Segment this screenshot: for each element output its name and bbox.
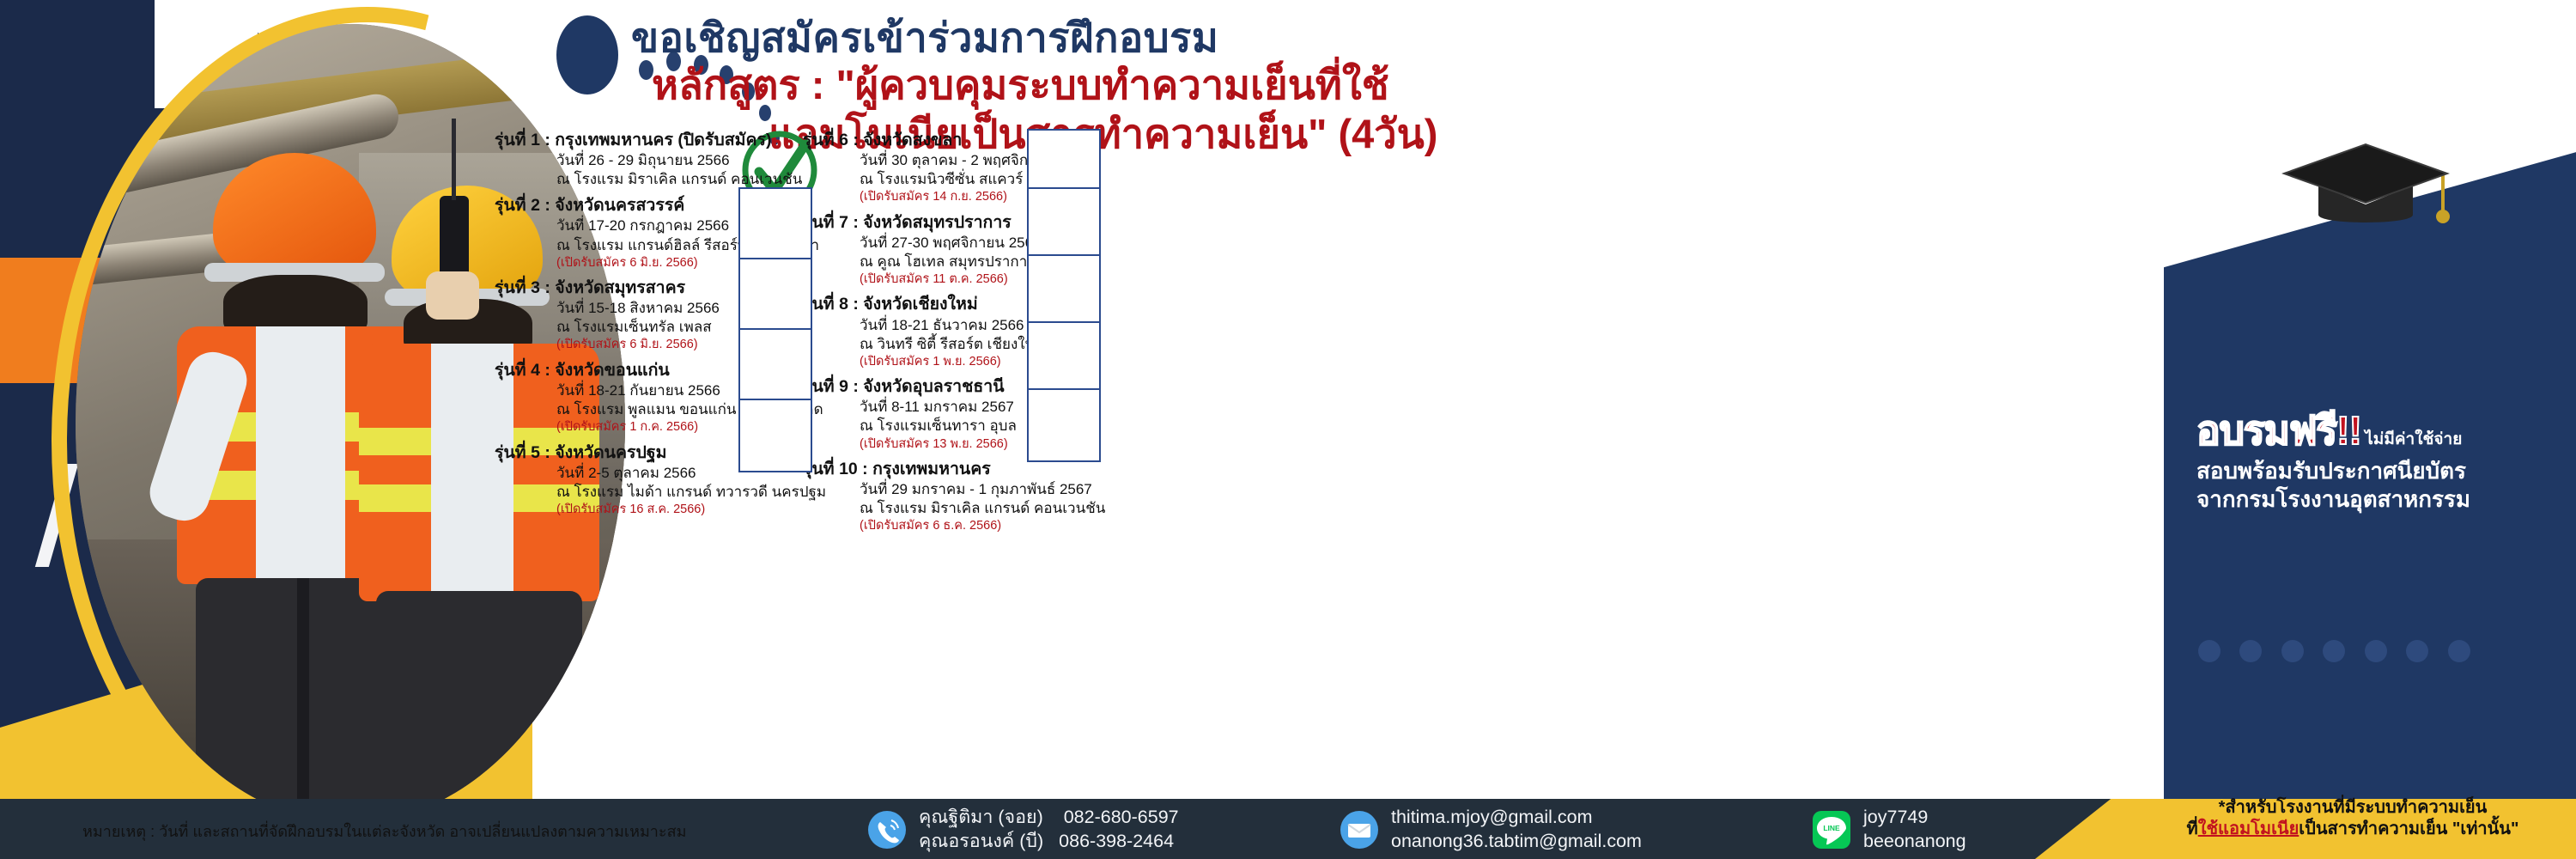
free-title-row: อบรมฟรี!! ไม่มีค่าใช้จ่าย	[2196, 411, 2574, 452]
batch-item: รุ่นที่ 7 : จังหวัดสมุทรปราการ วันที่ 27…	[803, 211, 1181, 289]
batch-heading: รุ่นที่ 8 : จังหวัดเชียงใหม่	[803, 293, 1181, 315]
qr-code-batch-4[interactable]	[738, 328, 812, 402]
footer-note-highlight: ใช้แอมโมเนีย	[2198, 819, 2300, 838]
phone-number-1: 082-680-6597	[1064, 807, 1179, 827]
footer-note-right-line1: *สำหรับโรงงานที่มีระบบทำความเย็น	[2138, 797, 2567, 819]
email-1[interactable]: thitima.mjoy@gmail.com	[1391, 806, 1642, 830]
batch-body: วันที่ 27-30 พฤศจิกายน 2566 ณ คูณ โฮเทล …	[803, 234, 1181, 289]
batch-item: รุ่นที่ 9 : จังหวัดอุบลราชธานี วันที่ 8-…	[803, 375, 1181, 453]
handheld-radio	[440, 196, 469, 278]
batch-open-date: (เปิดรับสมัคร 6 ธ.ค. 2566)	[860, 518, 1181, 534]
batch-open-date: (เปิดรับสมัคร 11 ต.ค. 2566)	[860, 271, 1181, 288]
qr-pattern	[743, 403, 808, 468]
footer-note-suffix: เป็นสารทำความเย็น "เท่านั้น"	[2299, 819, 2518, 838]
qr-pattern	[1031, 326, 1097, 391]
batch-body: วันที่ 18-21 ธันวาคม 2566 ณ วินทรี ซิตี้…	[803, 316, 1181, 371]
qr-code-batch-5[interactable]	[738, 399, 812, 472]
email-icon	[1340, 810, 1379, 850]
qr-pattern	[743, 332, 808, 398]
batch-item: รุ่นที่ 8 : จังหวัดเชียงใหม่ วันที่ 18-2…	[803, 293, 1181, 370]
footer-note-right-line2: ที่ใช้แอมโมเนียเป็นสารทำความเย็น "เท่านั…	[2138, 819, 2567, 840]
qr-code-batch-10[interactable]	[1027, 388, 1101, 462]
contact-phone-group[interactable]: คุณฐิติมา (จอย) 082-680-6597 คุณอรอนงค์ …	[867, 806, 1179, 853]
batch-venue: ณ โรงแรม มิราเคิล แกรนด์ คอนเวนชัน	[860, 499, 1181, 518]
qr-code-batch-8[interactable]	[1027, 254, 1101, 328]
decor-dot	[2198, 640, 2221, 662]
qr-code-batch-3[interactable]	[738, 258, 812, 332]
line-app-icon: LINE	[1812, 810, 1851, 850]
contact-line-group[interactable]: LINE joy7749 beeonanong	[1812, 806, 1966, 853]
qr-pattern	[1031, 192, 1097, 257]
line-badge-text: LINE	[1823, 824, 1840, 832]
batch-heading: รุ่นที่ 6 : จังหวัดสงขลา	[803, 129, 1181, 151]
phone-row-1: คุณฐิติมา (จอย) 082-680-6597	[919, 806, 1179, 830]
free-training-badge: อบรมฟรี!! ไม่มีค่าใช้จ่าย สอบพร้อมรับประ…	[2196, 411, 2574, 514]
batch-body: วันที่ 8-11 มกราคม 2567 ณ โรงแรมเซ็นทารา…	[803, 398, 1181, 453]
poster-root: กรมโรงงานอุตสาหกรรม กระทรวงอุตสาหกรรม	[0, 0, 2576, 859]
decor-dot	[2448, 640, 2470, 662]
worker-a-trouser-split	[297, 578, 309, 823]
batch-date: วันที่ 8-11 มกราคม 2567	[860, 398, 1181, 417]
email-2[interactable]: onanong36.tabtim@gmail.com	[1391, 830, 1642, 854]
phone-name-2: คุณอรอนงค์ (บี)	[919, 831, 1043, 851]
qr-pattern	[1031, 259, 1097, 324]
batch-heading: รุ่นที่ 9 : จังหวัดอุบลราชธานี	[803, 375, 1181, 398]
qr-pattern	[743, 262, 808, 327]
batch-date: วันที่ 30 ตุลาคม - 2 พฤศจิกายน 2566	[860, 151, 1181, 170]
worker-b-trousers	[376, 591, 582, 823]
phone-lines: คุณฐิติมา (จอย) 082-680-6597 คุณอรอนงค์ …	[919, 806, 1179, 853]
batch-venue: ณ โรงแรมนิวซีซั่น สแควร์ หาดใหญ่	[860, 170, 1181, 189]
title-bullet-icon	[556, 15, 618, 94]
qr-code-batch-9[interactable]	[1027, 321, 1101, 395]
batch-body: วันที่ 29 มกราคม - 1 กุมภาพันธ์ 2567 ณ โ…	[803, 480, 1181, 535]
email-lines: thitima.mjoy@gmail.com onanong36.tabtim@…	[1391, 806, 1642, 853]
free-subtitle: ไม่มีค่าใช้จ่าย	[2365, 430, 2462, 448]
phone-row-2: คุณอรอนงค์ (บี) 086-398-2464	[919, 830, 1179, 854]
decor-dot	[2406, 640, 2428, 662]
batch-heading: รุ่นที่ 10 : กรุงเทพมหานคร	[803, 458, 1181, 480]
line-ids: joy7749 beeonanong	[1863, 806, 1966, 853]
decor-dot	[2365, 640, 2387, 662]
batch-date: วันที่ 18-21 ธันวาคม 2566	[860, 316, 1181, 335]
decor-dots-row	[2198, 640, 2559, 666]
phone-icon	[867, 810, 907, 850]
batch-venue: ณ โรงแรมเซ็นทารา อุบล	[860, 417, 1181, 436]
decor-dot	[2239, 640, 2262, 662]
qr-code-batch-7[interactable]	[1027, 187, 1101, 261]
phone-name-1: คุณฐิติมา (จอย)	[919, 807, 1043, 827]
contact-email-group[interactable]: thitima.mjoy@gmail.com onanong36.tabtim@…	[1340, 806, 1642, 853]
batch-open-date: (เปิดรับสมัคร 13 พ.ย. 2566)	[860, 436, 1181, 453]
batch-column-right: รุ่นที่ 6 : จังหวัดสงขลา วันที่ 30 ตุลาค…	[803, 129, 1181, 540]
qr-code-batch-2[interactable]	[738, 187, 812, 261]
free-line-2: สอบพร้อมรับประกาศนียบัตร	[2196, 457, 2574, 485]
graduation-cap-icon	[2267, 129, 2464, 241]
decor-dot	[2281, 640, 2304, 662]
free-line-3: จากกรมโรงงานอุตสาหกรรม	[2196, 485, 2574, 514]
batch-date: วันที่ 27-30 พฤศจิกายน 2566	[860, 234, 1181, 253]
line-id-1[interactable]: joy7749	[1863, 806, 1966, 830]
footer-note-prefix: ที่	[2187, 819, 2198, 838]
line-id-2[interactable]: beeonanong	[1863, 830, 1966, 854]
batch-venue: ณ วินทรี ซิตี้ รีสอร์ต เชียงใหม่	[860, 335, 1181, 354]
batch-heading: รุ่นที่ 7 : จังหวัดสมุทรปราการ	[803, 211, 1181, 234]
batch-open-date: (เปิดรับสมัคร 1 พ.ย. 2566)	[860, 354, 1181, 370]
free-title: อบรมฟรี!!	[2196, 408, 2361, 453]
batch-body: วันที่ 30 ตุลาคม - 2 พฤศจิกายน 2566 ณ โร…	[803, 151, 1181, 206]
phone-number-2: 086-398-2464	[1059, 831, 1174, 851]
qr-pattern	[1031, 393, 1097, 458]
radio-antenna	[452, 119, 456, 200]
batch-open-date: (เปิดรับสมัคร 14 ก.ย. 2566)	[860, 189, 1181, 205]
footer-note-right: *สำหรับโรงงานที่มีระบบทำความเย็น ที่ใช้แ…	[2138, 797, 2567, 840]
decor-dot	[2323, 640, 2345, 662]
qr-pattern	[743, 192, 808, 257]
batch-date: วันที่ 29 มกราคม - 1 กุมภาพันธ์ 2567	[860, 480, 1181, 499]
batch-venue: ณ คูณ โฮเทล สมุทรปราการ	[860, 253, 1181, 271]
worker-b-hand	[426, 271, 479, 320]
batch-item: รุ่นที่ 10 : กรุงเทพมหานคร วันที่ 29 มกร…	[803, 458, 1181, 535]
batch-item: รุ่นที่ 6 : จังหวัดสงขลา วันที่ 30 ตุลาค…	[803, 129, 1181, 206]
footer-note-left: หมายเหตุ : วันที่ และสถานที่จัดฝึกอบรมใน…	[82, 819, 686, 844]
